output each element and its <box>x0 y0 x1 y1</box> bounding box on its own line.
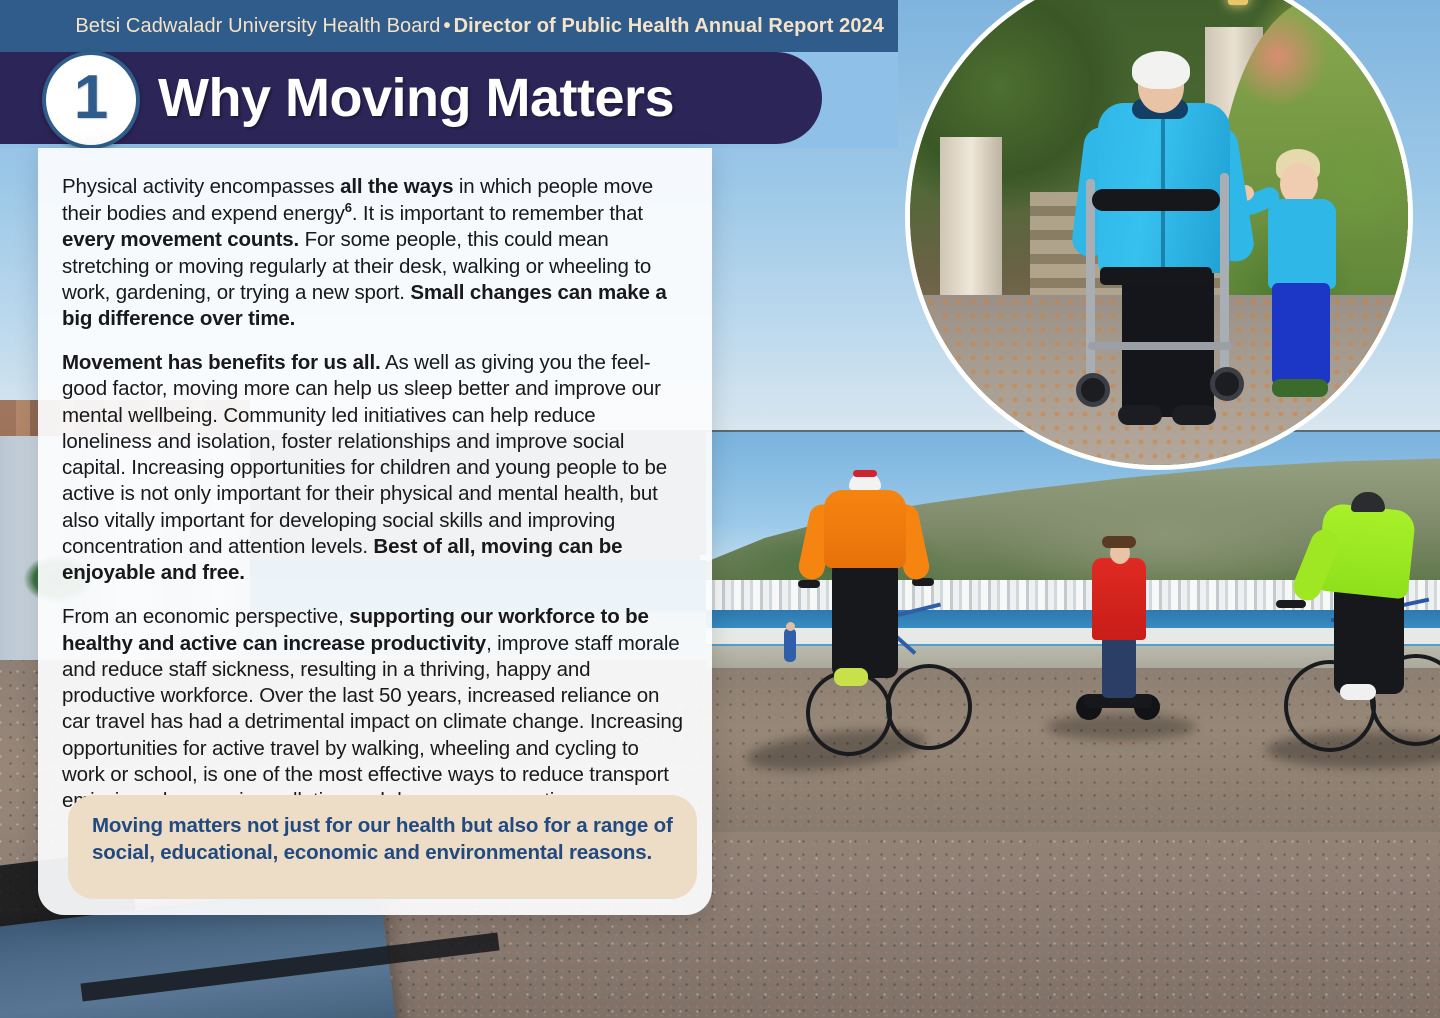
child-shoes <box>1272 379 1328 397</box>
cyclist-one-helmet-stripe <box>853 470 877 477</box>
cycling-promenade-wall <box>706 628 1440 644</box>
cyclist-two-legs <box>1334 584 1404 694</box>
callout-text: Moving matters not just for our health b… <box>92 813 673 866</box>
cyclist-two-shoe <box>1340 684 1376 700</box>
walking-frame-seat <box>1100 267 1212 285</box>
header-separator: • <box>440 15 453 37</box>
header-report-title: Director of Public Health Annual Report … <box>454 15 884 37</box>
walking-frame-wheel-left <box>1076 373 1110 407</box>
child-blue-top <box>1268 199 1336 289</box>
distant-runner-head <box>786 622 795 631</box>
walking-frame-handlebar <box>1092 189 1220 211</box>
header-organisation: Betsi Cadwaladr University Health Board <box>75 15 440 37</box>
key-message-callout: Moving matters not just for our health b… <box>68 795 697 899</box>
header-text: Betsi Cadwaladr University Health Board•… <box>75 15 884 38</box>
paragraph-1: Physical activity encompasses all the wa… <box>62 174 684 332</box>
walking-frame-wheel-right <box>1210 367 1244 401</box>
cycling-photo <box>706 432 1440 832</box>
scooter-rider-red-coat <box>1092 558 1146 640</box>
scooter-rider-legs <box>1102 636 1136 698</box>
child-blue-trousers <box>1272 283 1330 385</box>
older-woman-shoe-left <box>1118 405 1162 425</box>
scooter-rider-shadow <box>1046 714 1196 740</box>
cyclist-two-handlebar <box>1276 600 1306 608</box>
cyclist-one-front-wheel <box>886 664 972 750</box>
scooter-rider-hat <box>1102 536 1136 548</box>
circular-photo-walker-and-child <box>905 0 1413 470</box>
older-woman-shoe-right <box>1172 405 1216 425</box>
walking-frame-crossbar <box>1088 342 1232 350</box>
page-title: Why Moving Matters <box>158 67 674 129</box>
section-number-badge: 1 <box>42 51 140 149</box>
report-header-bar: Betsi Cadwaladr University Health Board•… <box>0 0 898 52</box>
cyclist-one-shoe <box>834 668 868 686</box>
cyclist-one-legs <box>832 560 898 678</box>
report-page: Betsi Cadwaladr University Health Board•… <box>0 0 1440 1018</box>
cyclist-one-orange-jersey <box>824 490 906 568</box>
cyclist-one-handlebar-left <box>798 580 820 588</box>
section-number: 1 <box>74 67 108 129</box>
paragraph-2: Movement has benefits for us all. As wel… <box>62 350 684 586</box>
circle-photo-lantern <box>1228 0 1248 5</box>
older-woman-hair <box>1132 51 1190 89</box>
article-body: Physical activity encompasses all the wa… <box>62 174 684 814</box>
distant-runner <box>784 628 796 662</box>
paragraph-3: From an economic perspective, supporting… <box>62 604 684 814</box>
